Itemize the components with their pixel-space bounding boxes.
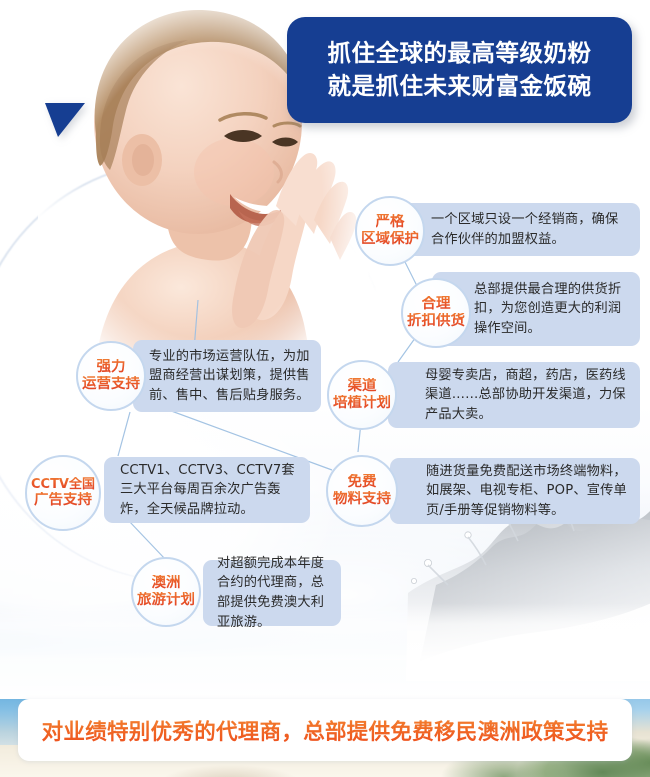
badge-line-1: 免费 <box>348 474 377 491</box>
feature-body: 对超额完成本年度合约的代理商，总部提供免费澳大利亚旅游。 <box>217 554 331 632</box>
promo-poster: 一个区域只设一个经销商，确保合作伙伴的加盟权益。 严格 区域保护 总部提供最合理… <box>0 0 650 777</box>
feature-badge-australia-tour[interactable]: 澳洲 旅游计划 <box>131 557 201 627</box>
feature-badge-cctv-ads[interactable]: CCTV全国 广告支持 <box>25 455 101 531</box>
badge-line-1: 严格 <box>376 214 405 231</box>
feature-body: 总部提供最合理的供货折扣，为您创造更大的利润操作空间。 <box>474 280 629 339</box>
feature-body: 母婴专卖店，商超，药店，医药线渠道……总部协助开发渠道，力保产品大卖。 <box>425 366 629 425</box>
feature-body: 专业的市场运营队伍，为加盟商经营出谋划策，提供售前、售中、售后贴身服务。 <box>149 347 310 406</box>
badge-line-2: 物料支持 <box>333 491 391 508</box>
feature-body: CCTV1、CCTV3、CCTV7套三大平台每周百余次广告轰炸，全天候品牌拉动。 <box>120 461 299 520</box>
badge-line-2: 折扣供货 <box>407 313 465 330</box>
badge-line-1: 澳洲 <box>152 575 181 592</box>
headline-bubble-tail <box>45 103 85 137</box>
badge-line-1: CCTV全国 <box>31 477 95 492</box>
feature-badge-free-materials[interactable]: 免费 物料支持 <box>326 455 398 527</box>
feature-panel: 随进货量免费配送市场终端物料，如展架、电视专柜、POP、宣传单页/手册等促销物料… <box>390 458 640 524</box>
headline-text: 抓住全球的最高等级奶粉 就是抓住未来财富金饭碗 <box>287 17 632 123</box>
headline-line-2: 就是抓住未来财富金饭碗 <box>328 70 592 103</box>
feature-body: 一个区域只设一个经销商，确保合作伙伴的加盟权益。 <box>431 210 629 249</box>
feature-badge-operation-support[interactable]: 强力 运营支持 <box>76 341 146 411</box>
feature-badge-region-protection[interactable]: 严格 区域保护 <box>355 196 425 266</box>
badge-line-1: 合理 <box>422 296 451 313</box>
feature-panel: 专业的市场运营队伍，为加盟商经营出谋划策，提供售前、售中、售后贴身服务。 <box>133 340 321 412</box>
feature-panel: 母婴专卖店，商超，药店，医药线渠道……总部协助开发渠道，力保产品大卖。 <box>388 362 640 428</box>
headline-line-1: 抓住全球的最高等级奶粉 <box>328 37 592 70</box>
badge-line-2: 旅游计划 <box>137 592 195 609</box>
badge-line-2: 区域保护 <box>361 231 419 248</box>
feature-panel: 对超额完成本年度合约的代理商，总部提供免费澳大利亚旅游。 <box>203 560 341 626</box>
badge-line-2: 培植计划 <box>333 395 391 412</box>
headline-bubble: 抓住全球的最高等级奶粉 就是抓住未来财富金饭碗 <box>287 17 632 123</box>
badge-line-2: 运营支持 <box>82 376 140 393</box>
feature-panel: 一个区域只设一个经销商，确保合作伙伴的加盟权益。 <box>388 203 640 256</box>
feature-panel: CCTV1、CCTV3、CCTV7套三大平台每周百余次广告轰炸，全天候品牌拉动。 <box>104 457 310 523</box>
feature-badge-discount-supply[interactable]: 合理 折扣供货 <box>401 278 471 348</box>
badge-line-1: 渠道 <box>348 378 377 395</box>
feature-body: 随进货量免费配送市场终端物料，如展架、电视专柜、POP、宣传单页/手册等促销物料… <box>426 462 629 521</box>
badge-line-2: 广告支持 <box>34 492 92 509</box>
badge-line-1: 强力 <box>97 359 126 376</box>
feature-badge-channel-plan[interactable]: 渠道 培植计划 <box>327 360 397 430</box>
bottom-banner-text: 对业绩特别优秀的代理商，总部提供免费移民澳洲政策支持 <box>42 715 609 746</box>
bottom-banner: 对业绩特别优秀的代理商，总部提供免费移民澳洲政策支持 <box>18 699 632 761</box>
